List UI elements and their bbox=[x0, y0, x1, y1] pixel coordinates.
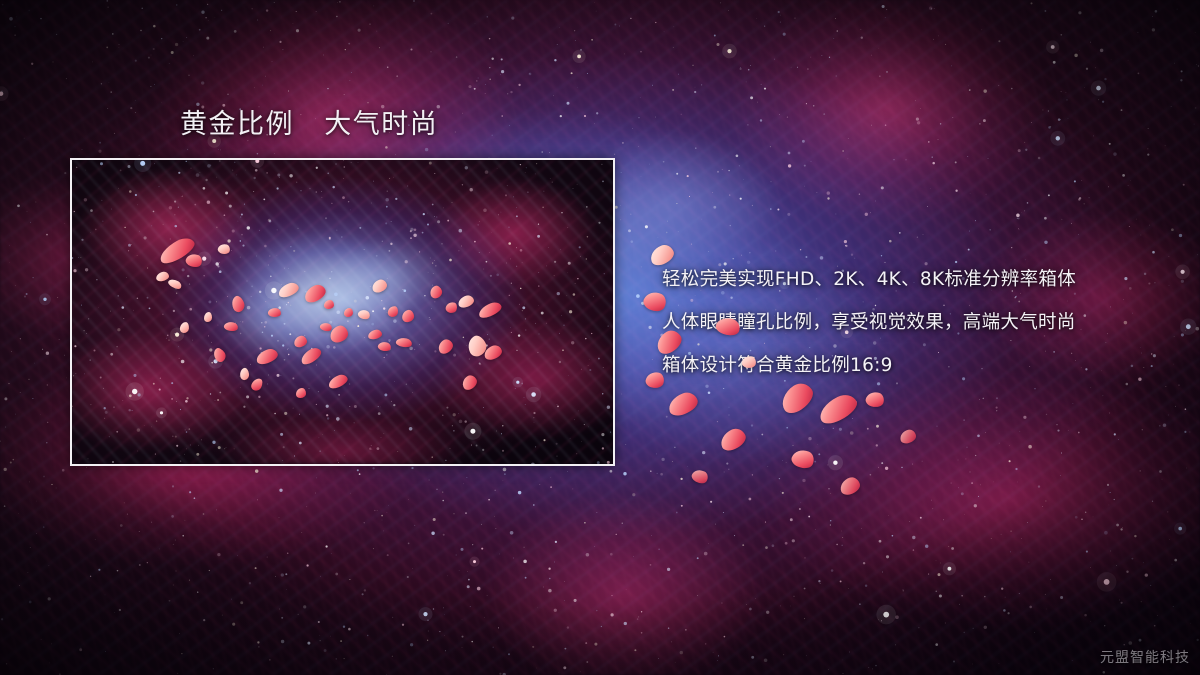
body-copy-line-2: 人体眼睛瞳孔比例，享受视觉效果，高端大气时尚 bbox=[662, 301, 1162, 344]
petal bbox=[717, 426, 748, 454]
watermark: 元盟智能科技 bbox=[1100, 647, 1190, 667]
petal bbox=[690, 467, 710, 486]
body-copy-line-3: 箱体设计符合黄金比例16:9 bbox=[662, 344, 1162, 387]
petal bbox=[815, 390, 861, 427]
petal bbox=[789, 447, 816, 472]
picture-image-nebula-petals bbox=[72, 160, 613, 464]
petal bbox=[864, 390, 885, 409]
petal bbox=[899, 428, 918, 444]
slide-canvas: 黄金比例 大气时尚 轻松完美实现FHD、2K、4K、8K标准分辨率箱体 人体眼睛… bbox=[0, 0, 1200, 675]
picture-wisps bbox=[72, 160, 613, 464]
framed-picture bbox=[70, 158, 615, 466]
body-copy-block: 轻松完美实现FHD、2K、4K、8K标准分辨率箱体 人体眼睛瞳孔比例，享受视觉效… bbox=[662, 258, 1162, 387]
body-copy-line-1: 轻松完美实现FHD、2K、4K、8K标准分辨率箱体 bbox=[662, 258, 1162, 301]
page-title: 黄金比例 大气时尚 bbox=[180, 102, 438, 141]
petal bbox=[838, 475, 862, 496]
petal bbox=[665, 389, 700, 418]
